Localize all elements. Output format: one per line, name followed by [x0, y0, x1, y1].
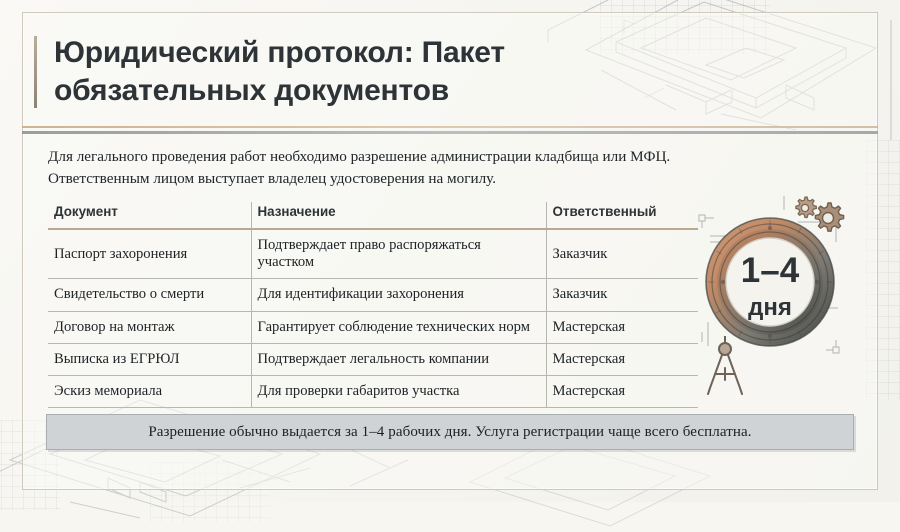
column-header-responsible: Ответственный	[546, 202, 698, 229]
cell-responsible: Мастерская	[546, 376, 698, 408]
column-header-purpose: Назначение	[251, 202, 546, 229]
cell-purpose: Гарантирует соблюдение технических норм	[251, 311, 546, 343]
accent-bar	[34, 36, 37, 108]
cell-purpose: Подтверждает легальность компании	[251, 343, 546, 375]
table-row: Свидетельство о смерти Для идентификации…	[48, 279, 698, 311]
cell-purpose: Для проверки габаритов участка	[251, 376, 546, 408]
compass-icon	[696, 336, 754, 398]
page-title: Юридический протокол: Пакет обязательных…	[54, 34, 578, 111]
cell-purpose: Подтверждает право распоряжаться участко…	[251, 229, 546, 279]
cell-responsible: Заказчик	[546, 229, 698, 279]
table-row: Паспорт захоронения Подтверждает право р…	[48, 229, 698, 279]
table-row: Договор на монтаж Гарантирует соблюдение…	[48, 311, 698, 343]
duration-badge: 1–4 дня	[688, 196, 888, 400]
divider-line-gold	[22, 126, 878, 128]
cell-responsible: Мастерская	[546, 343, 698, 375]
cell-responsible: Мастерская	[546, 311, 698, 343]
cell-responsible: Заказчик	[546, 279, 698, 311]
info-callout: Разрешение обычно выдается за 1–4 рабочи…	[46, 414, 854, 450]
table-row: Выписка из ЕГРЮЛ Подтверждает легальност…	[48, 343, 698, 375]
badge-unit: дня	[748, 294, 792, 321]
gear-icon	[792, 195, 818, 221]
cell-document: Паспорт захоронения	[48, 229, 251, 279]
cell-document: Эскиз мемориала	[48, 376, 251, 408]
documents-table: Документ Назначение Ответственный Паспор…	[48, 202, 698, 408]
header: Юридический протокол: Пакет обязательных…	[22, 12, 878, 126]
cell-document: Выписка из ЕГРЮЛ	[48, 343, 251, 375]
badge-value: 1–4	[741, 251, 800, 290]
cell-purpose: Для идентификации захоронения	[251, 279, 546, 311]
table-header-row: Документ Назначение Ответственный	[48, 202, 698, 229]
intro-line-1: Для легального проведения работ необходи…	[48, 146, 784, 168]
cell-document: Договор на монтаж	[48, 311, 251, 343]
column-header-document: Документ	[48, 202, 251, 229]
callout-text: Разрешение обычно выдается за 1–4 рабочи…	[148, 424, 751, 441]
table-row: Эскиз мемориала Для проверки габаритов у…	[48, 376, 698, 408]
header-divider	[22, 126, 878, 136]
cell-document: Свидетельство о смерти	[48, 279, 251, 311]
intro-line-2: Ответственным лицом выступает владелец у…	[48, 168, 784, 190]
intro-paragraph: Для легального проведения работ необходи…	[48, 146, 784, 190]
divider-line-steel	[22, 131, 878, 134]
